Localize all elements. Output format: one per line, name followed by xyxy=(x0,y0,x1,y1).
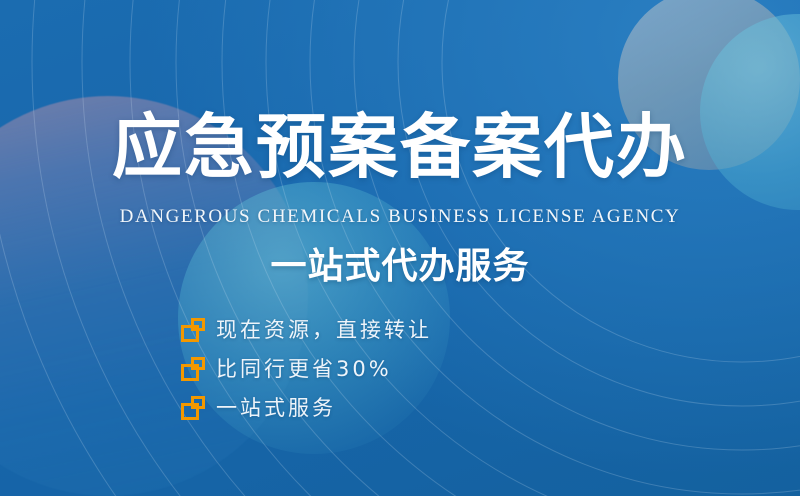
promo-banner: 应急预案备案代办 DANGEROUS CHEMICALS BUSINESS LI… xyxy=(0,0,800,496)
list-item: 一站式服务 xyxy=(181,394,432,422)
feature-list: 现在资源，直接转让 比同行更省30% 一站式服务 xyxy=(181,316,432,422)
chinese-subtitle: 一站式代办服务 xyxy=(0,245,800,288)
overlapping-squares-icon xyxy=(181,318,205,342)
list-item: 现在资源，直接转让 xyxy=(181,316,432,344)
list-item-label: 一站式服务 xyxy=(216,398,336,419)
list-item-label: 现在资源，直接转让 xyxy=(216,320,432,341)
list-item: 比同行更省30% xyxy=(181,355,432,383)
list-item-label: 比同行更省30% xyxy=(216,359,392,380)
overlapping-squares-icon xyxy=(181,357,205,381)
banner-content: 应急预案备案代办 DANGEROUS CHEMICALS BUSINESS LI… xyxy=(0,0,800,496)
page-title: 应急预案备案代办 xyxy=(0,112,800,182)
overlapping-squares-icon xyxy=(181,396,205,420)
english-subtitle: DANGEROUS CHEMICALS BUSINESS LICENSE AGE… xyxy=(0,206,800,228)
